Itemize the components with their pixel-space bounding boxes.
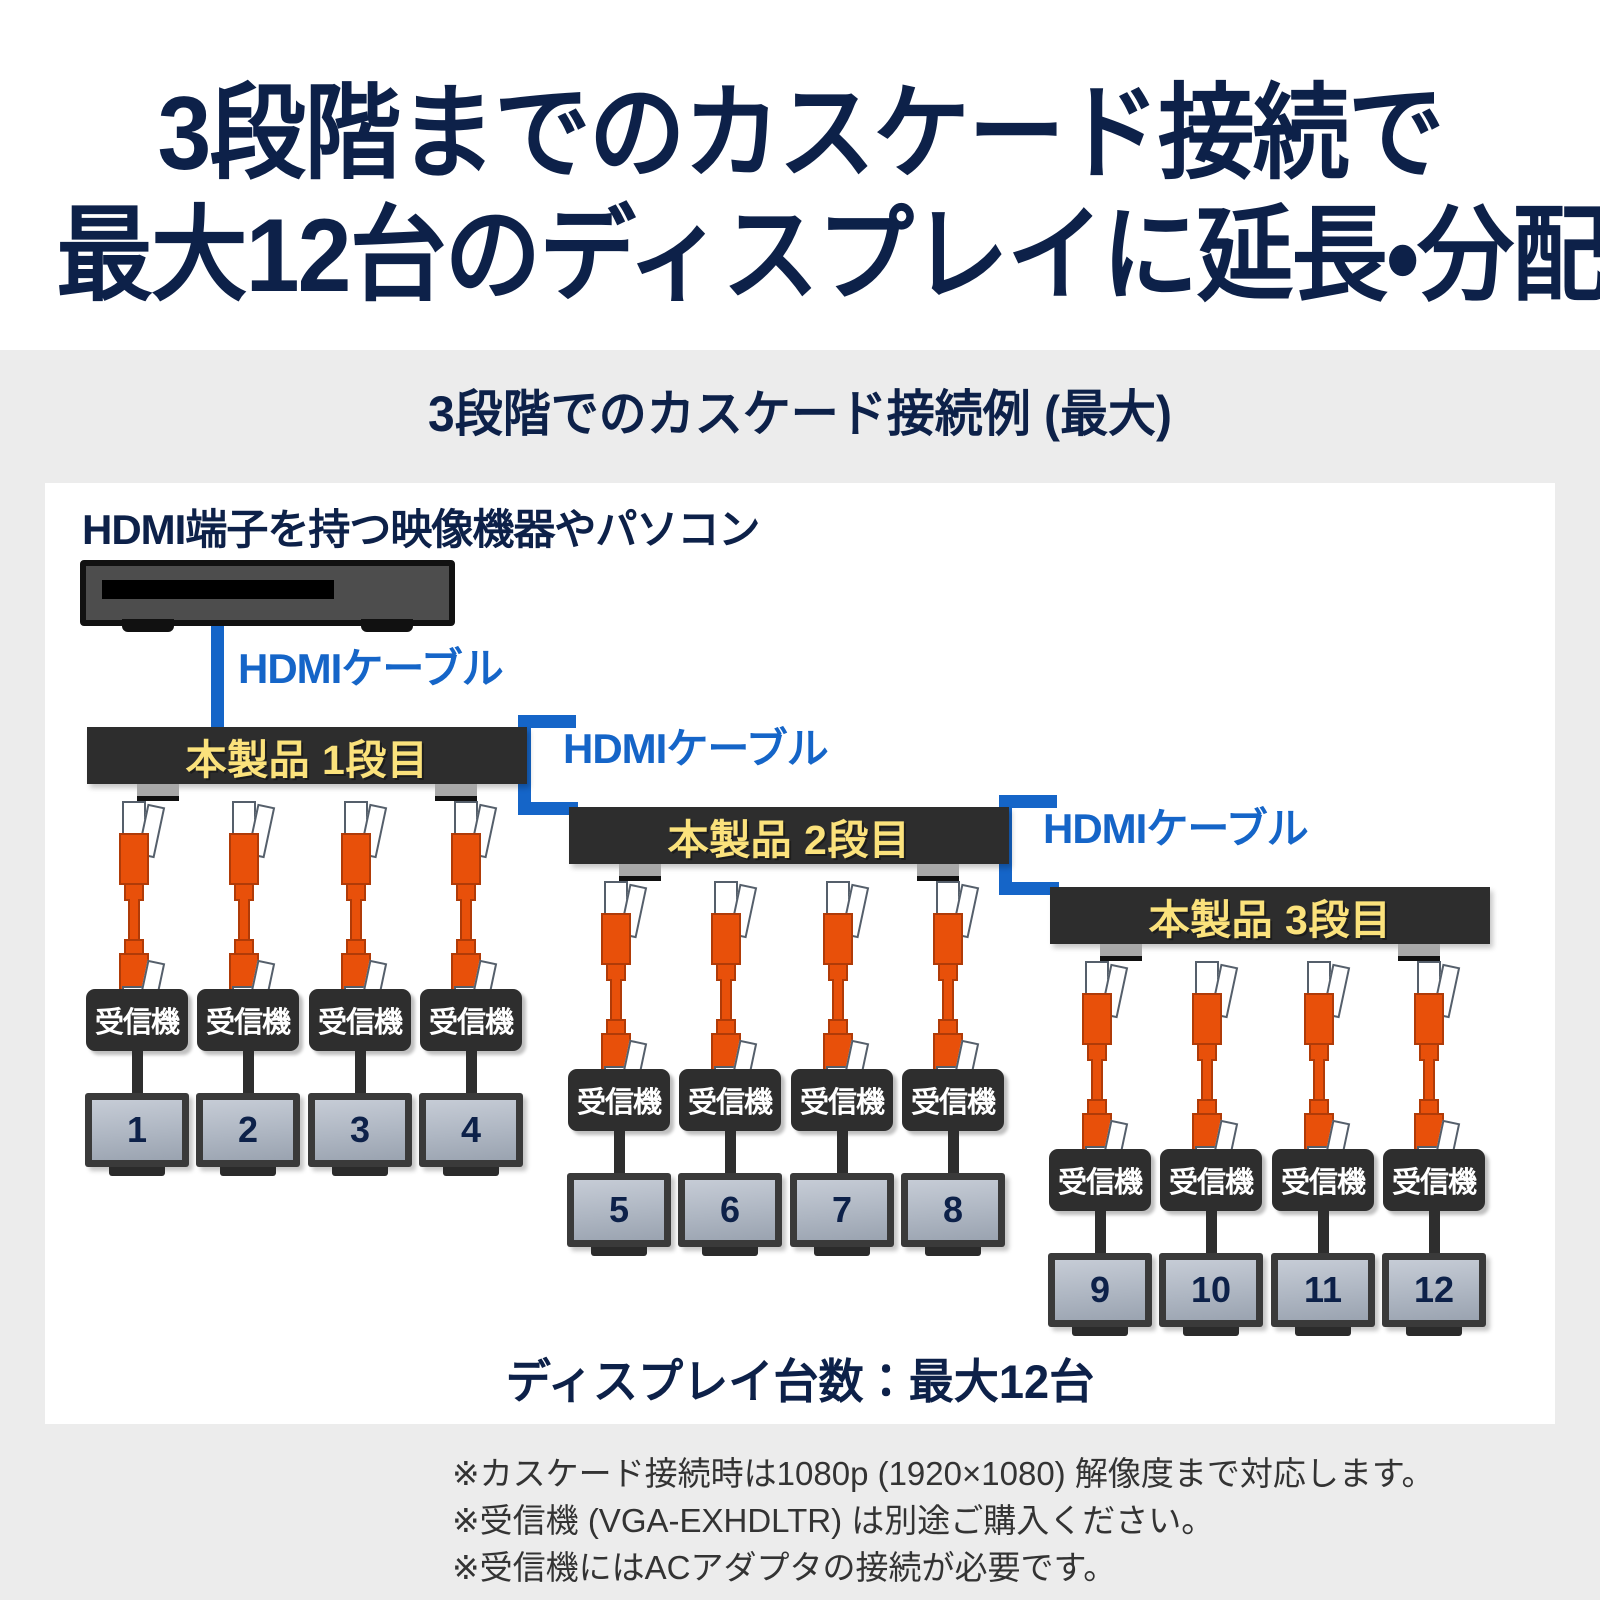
- receiver-11-label: 受信機: [1281, 1159, 1365, 1201]
- content-area: 3段階でのカスケード接続例 (最大) HDMI端子を持つ映像機器やパソコン HD…: [0, 350, 1600, 1600]
- footnote-2: ※受信機 (VGA-EXHDLTR) は別途ご購入ください。: [452, 1497, 1572, 1544]
- lan-cable-3: [335, 801, 379, 986]
- lead-12: [1429, 1203, 1440, 1259]
- monitor-11: 11: [1271, 1253, 1375, 1327]
- monitor-7-stand: [814, 1247, 870, 1256]
- lead-6: [725, 1123, 736, 1179]
- lan-cable-9: [1076, 961, 1120, 1146]
- source-device-slot: [102, 580, 334, 599]
- receiver-7: 受信機: [791, 1069, 893, 1131]
- monitor-3-stand: [332, 1167, 388, 1176]
- monitor-8-number: 8: [943, 1192, 963, 1228]
- source-device-foot-right: [361, 619, 413, 632]
- stage-box-3: 本製品 3段目: [1050, 887, 1490, 944]
- lead-5: [614, 1123, 625, 1179]
- lead-11: [1318, 1203, 1329, 1259]
- monitor-8: 8: [901, 1173, 1005, 1247]
- monitor-5-number: 5: [609, 1192, 629, 1228]
- receiver-3: 受信機: [309, 989, 411, 1051]
- monitor-9: 9: [1048, 1253, 1152, 1327]
- monitor-1: 1: [85, 1093, 189, 1167]
- receiver-10-label: 受信機: [1169, 1159, 1253, 1201]
- lan-cable-6: [705, 881, 749, 1066]
- receiver-5-label: 受信機: [577, 1079, 661, 1121]
- lead-7: [837, 1123, 848, 1179]
- monitor-10: 10: [1159, 1253, 1263, 1327]
- monitor-1-stand: [109, 1167, 165, 1176]
- monitor-2: 2: [196, 1093, 300, 1167]
- lan-cable-2: [223, 801, 267, 986]
- monitor-2-number: 2: [238, 1112, 258, 1148]
- receiver-2-label: 受信機: [206, 999, 290, 1041]
- receiver-1: 受信機: [86, 989, 188, 1051]
- receiver-3-label: 受信機: [318, 999, 402, 1041]
- stage-box-2-foot-right: [917, 864, 959, 881]
- footnotes-block: ※カスケード接続時は1080p (1920×1080) 解像度まで対応します。 …: [452, 1450, 1572, 1591]
- lead-4: [466, 1043, 477, 1099]
- stage-box-2: 本製品 2段目: [569, 807, 1009, 864]
- monitor-12-stand: [1406, 1327, 1462, 1336]
- monitor-12-number: 12: [1414, 1272, 1454, 1308]
- receiver-12-label: 受信機: [1392, 1159, 1476, 1201]
- monitor-8-stand: [925, 1247, 981, 1256]
- lan-cable-8: [927, 881, 971, 1066]
- monitor-4-stand: [443, 1167, 499, 1176]
- monitor-3: 3: [308, 1093, 412, 1167]
- monitor-10-number: 10: [1191, 1272, 1231, 1308]
- lan-cable-7: [817, 881, 861, 1066]
- monitor-4-number: 4: [461, 1112, 481, 1148]
- monitor-6-number: 6: [720, 1192, 740, 1228]
- receiver-8-label: 受信機: [911, 1079, 995, 1121]
- lan-cable-11: [1298, 961, 1342, 1146]
- stage-box-1-label: 本製品 1段目: [87, 727, 527, 784]
- receiver-5: 受信機: [568, 1069, 670, 1131]
- monitor-4: 4: [419, 1093, 523, 1167]
- header-banner: 3段階までのカスケード接続で 最大12台のディスプレイに延長・分配: [0, 0, 1600, 350]
- lan-cable-1: [113, 801, 157, 986]
- stage-box-1: 本製品 1段目: [87, 727, 527, 784]
- receiver-4: 受信機: [420, 989, 522, 1051]
- lan-cable-4: [445, 801, 489, 986]
- lan-cable-10: [1186, 961, 1230, 1146]
- source-device-foot-left: [122, 619, 174, 632]
- monitor-3-number: 3: [350, 1112, 370, 1148]
- monitor-7: 7: [790, 1173, 894, 1247]
- monitor-6-stand: [702, 1247, 758, 1256]
- receiver-6: 受信機: [679, 1069, 781, 1131]
- stage-box-3-foot-left: [1100, 944, 1142, 961]
- diagram-caption: ディスプレイ台数：最大12台: [75, 1343, 1525, 1412]
- monitor-10-stand: [1183, 1327, 1239, 1336]
- footnote-1: ※カスケード接続時は1080p (1920×1080) 解像度まで対応します。: [452, 1450, 1572, 1497]
- receiver-1-label: 受信機: [95, 999, 179, 1041]
- receiver-4-label: 受信機: [429, 999, 513, 1041]
- lead-2: [243, 1043, 254, 1099]
- receiver-9-label: 受信機: [1058, 1159, 1142, 1201]
- source-device: [80, 560, 455, 626]
- receiver-8: 受信機: [902, 1069, 1004, 1131]
- hdmi-cable-label-3: HDMIケーブル: [1043, 795, 1308, 856]
- monitor-11-stand: [1295, 1327, 1351, 1336]
- cascade-diagram-panel: HDMI端子を持つ映像機器やパソコン HDMIケーブル HDMIケーブル HDM…: [45, 483, 1555, 1424]
- lan-cable-12: [1408, 961, 1452, 1146]
- stage-box-2-foot-left: [619, 864, 661, 881]
- lead-9: [1095, 1203, 1106, 1259]
- monitor-9-number: 9: [1090, 1272, 1110, 1308]
- receiver-2: 受信機: [197, 989, 299, 1051]
- monitor-7-number: 7: [832, 1192, 852, 1228]
- stage-box-1-foot-right: [435, 784, 477, 801]
- monitor-2-stand: [220, 1167, 276, 1176]
- stage-box-1-foot-left: [137, 784, 179, 801]
- stage-box-3-foot-right: [1398, 944, 1440, 961]
- monitor-6: 6: [678, 1173, 782, 1247]
- receiver-10: 受信機: [1160, 1149, 1262, 1211]
- monitor-11-number: 11: [1304, 1272, 1342, 1308]
- lead-10: [1206, 1203, 1217, 1259]
- lead-8: [948, 1123, 959, 1179]
- stage-box-3-label: 本製品 3段目: [1050, 887, 1490, 944]
- lan-cable-5: [595, 881, 639, 1066]
- hdmi-cable-label-2: HDMIケーブル: [563, 715, 828, 776]
- monitor-12: 12: [1382, 1253, 1486, 1327]
- stage-box-2-label: 本製品 2段目: [569, 807, 1009, 864]
- footnote-3: ※受信機にはACアダプタの接続が必要です。: [452, 1544, 1572, 1591]
- receiver-12: 受信機: [1383, 1149, 1485, 1211]
- lead-3: [355, 1043, 366, 1099]
- receiver-9: 受信機: [1049, 1149, 1151, 1211]
- section-subtitle: 3段階でのカスケード接続例 (最大): [32, 374, 1568, 446]
- receiver-6-label: 受信機: [688, 1079, 772, 1121]
- source-device-label: HDMI端子を持つ映像機器やパソコン: [82, 496, 759, 557]
- monitor-9-stand: [1072, 1327, 1128, 1336]
- receiver-7-label: 受信機: [800, 1079, 884, 1121]
- monitor-5: 5: [567, 1173, 671, 1247]
- monitor-5-stand: [591, 1247, 647, 1256]
- monitor-1-number: 1: [127, 1112, 147, 1148]
- lead-1: [132, 1043, 143, 1099]
- hdmi-cable-label-1: HDMIケーブル: [238, 635, 503, 696]
- page-title-line-2: 最大12台のディスプレイに延長・分配: [56, 170, 1544, 321]
- hdmi-cable-source-to-stage1: [211, 626, 224, 727]
- receiver-11: 受信機: [1272, 1149, 1374, 1211]
